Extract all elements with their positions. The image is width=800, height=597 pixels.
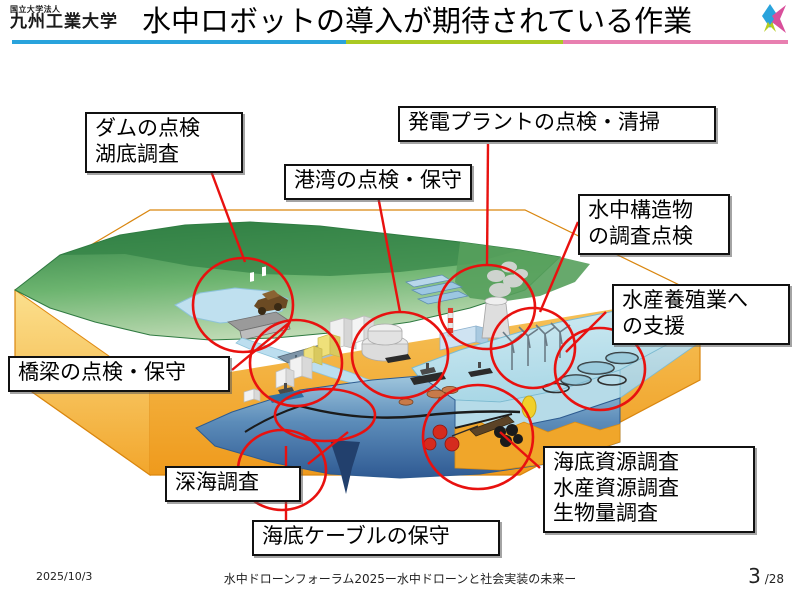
footer-event-title: 水中ドローンフォーラム2025ー水中ドローンと社会実装の未来ー xyxy=(0,570,800,587)
header-rule-segment-1 xyxy=(12,40,346,44)
callout-underwater-structure[interactable]: 水中構造物 の調査点検 xyxy=(578,194,730,255)
header-rule-segment-2 xyxy=(346,40,563,44)
callout-power-plant-inspection[interactable]: 発電プラントの点検・清掃 xyxy=(398,106,716,142)
page-title: 水中ロボットの導入が期待されている作業 xyxy=(142,2,722,40)
university-logo-main: 九州工業大学 xyxy=(10,14,118,32)
header-color-rule xyxy=(12,40,788,44)
slide-footer: 2025/10/3 水中ドローンフォーラム2025ー水中ドローンと社会実装の未来… xyxy=(0,562,800,597)
callout-deep-sea-survey[interactable]: 深海調査 xyxy=(165,466,301,502)
page-number-total: /28 xyxy=(765,572,784,586)
footer-page-number: 3 /28 xyxy=(748,564,784,588)
kyutech-k-logo-icon xyxy=(750,2,790,38)
callout-aquaculture-support[interactable]: 水産養殖業へ の支援 xyxy=(612,284,790,345)
page-number-current: 3 xyxy=(748,564,761,588)
callout-submarine-cable[interactable]: 海底ケーブルの保守 xyxy=(252,520,500,556)
callout-port-inspection[interactable]: 港湾の点検・保守 xyxy=(284,164,472,200)
slide-header: 国立大学法人 九州工業大学 水中ロボットの導入が期待されている作業 xyxy=(0,0,800,48)
leader-plant xyxy=(487,144,488,266)
university-logo: 国立大学法人 九州工業大学 xyxy=(10,6,118,32)
callout-seabed-resources[interactable]: 海底資源調査 水産資源調査 生物量調査 xyxy=(543,446,755,533)
callout-dam-inspection[interactable]: ダムの点検 湖底調査 xyxy=(85,112,243,173)
callout-bridge-inspection[interactable]: 橋梁の点検・保守 xyxy=(8,356,230,392)
header-rule-segment-3 xyxy=(563,40,788,44)
slide-root: 国立大学法人 九州工業大学 水中ロボットの導入が期待されている作業 xyxy=(0,0,800,597)
